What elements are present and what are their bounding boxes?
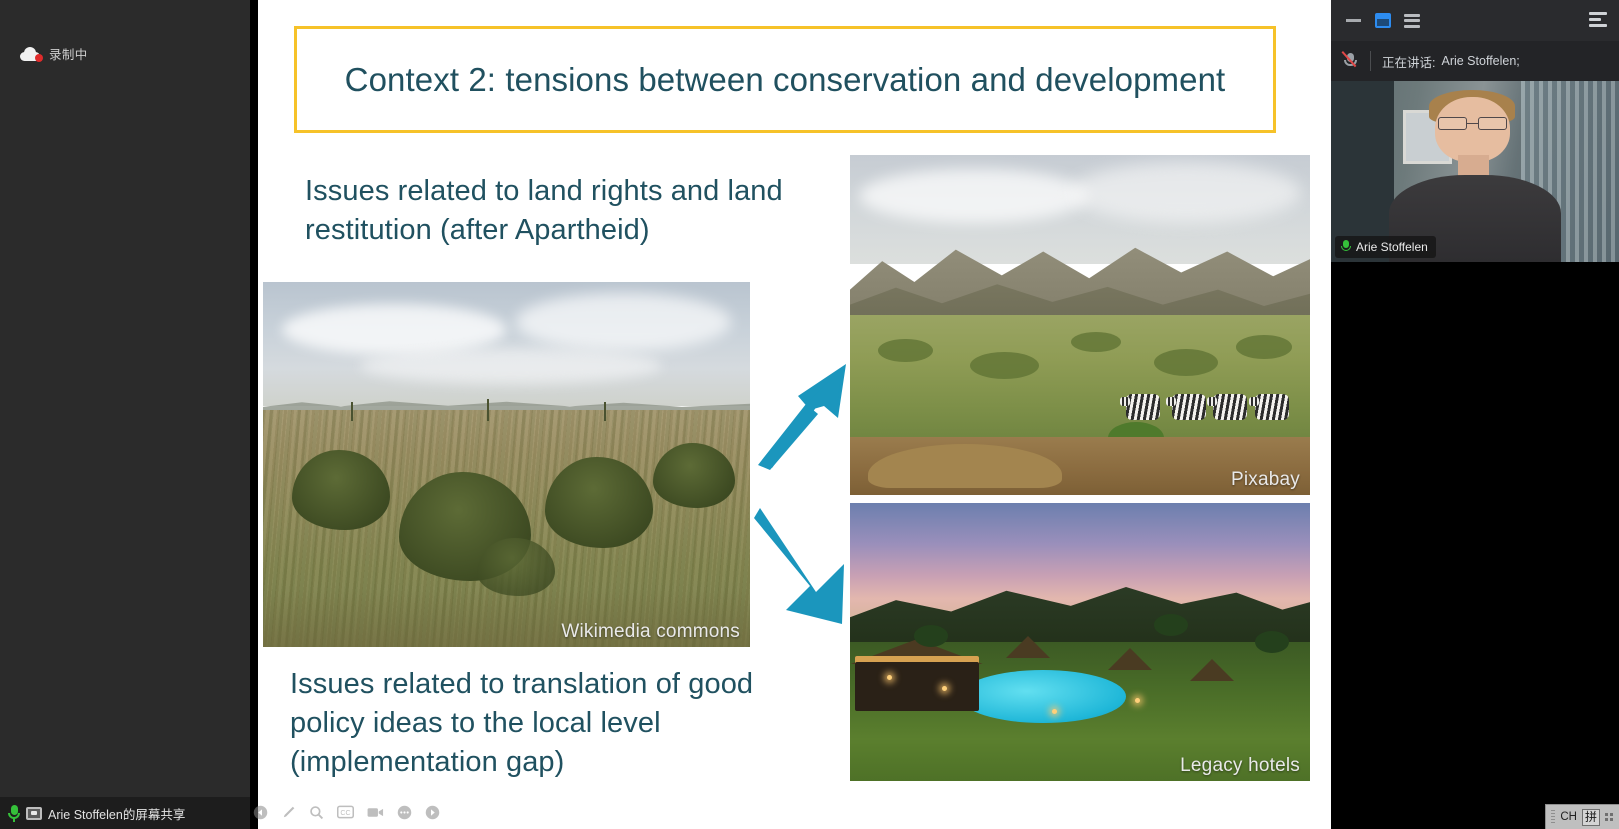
next-slide-icon[interactable]	[425, 805, 440, 820]
photo-caption: Legacy hotels	[1180, 755, 1300, 777]
photo-caption: Pixabay	[1231, 469, 1300, 491]
maximize-icon[interactable]	[1374, 12, 1391, 29]
presentation-slide[interactable]: Context 2: tensions between conservation…	[258, 0, 1331, 829]
panel-titlebar	[1331, 0, 1619, 41]
lodge-resort-photo: Legacy hotels	[850, 503, 1310, 781]
keyboard-options-icon[interactable]	[1605, 813, 1614, 822]
zoom-video-panel: 正在讲话: Arie Stoffelen; Arie Stoffelen	[1331, 0, 1619, 829]
screen-share-icon[interactable]	[26, 807, 42, 820]
ime-language-label[interactable]: CH	[1560, 811, 1577, 823]
slide-text-bottom: Issues related to translation of good po…	[290, 665, 760, 782]
black-gutter	[250, 0, 258, 829]
zebras-savanna-photo: Pixabay	[850, 155, 1310, 495]
slideshow-toolbar[interactable]: CC	[253, 801, 440, 823]
photo-caption: Wikimedia commons	[561, 621, 740, 643]
microphone-icon[interactable]	[8, 805, 20, 822]
magnifier-zoom-icon[interactable]	[309, 805, 324, 820]
previous-slide-icon[interactable]	[253, 805, 268, 820]
more-options-icon[interactable]	[397, 805, 412, 820]
svg-text:CC: CC	[340, 809, 350, 817]
drag-grip-icon[interactable]	[1551, 810, 1555, 825]
slide-text-top: Issues related to land rights and land r…	[305, 172, 785, 250]
minimize-icon[interactable]	[1345, 12, 1362, 29]
bushland-photo: Wikimedia commons	[263, 282, 750, 647]
recording-label: 录制中	[49, 44, 88, 63]
participant-video-tile[interactable]: Arie Stoffelen	[1331, 81, 1619, 262]
arrow-down-right	[754, 500, 850, 630]
participant-name-chip: Arie Stoffelen	[1335, 236, 1436, 258]
screen-share-bar: Arie Stoffelen的屏幕共享	[0, 797, 250, 829]
active-speaker-bar: 正在讲话: Arie Stoffelen;	[1331, 41, 1619, 81]
participant-name: Arie Stoffelen	[1356, 240, 1428, 254]
view-layout-icon[interactable]	[1403, 12, 1420, 29]
arrow-up-right	[754, 360, 850, 470]
ime-language-bar[interactable]: CH 拼	[1545, 804, 1619, 829]
speaking-name-label: Arie Stoffelen;	[1441, 54, 1519, 68]
microphone-muted-icon[interactable]	[1344, 52, 1359, 70]
ime-mode-label[interactable]: 拼	[1582, 809, 1600, 826]
pen-annotate-icon[interactable]	[281, 805, 296, 820]
screen-root: 录制中 Arie Stoffelen的屏幕共享 Context 2: tensi…	[0, 0, 1619, 829]
left-desktop-panel	[0, 0, 250, 829]
slide-title: Context 2: tensions between conservation…	[345, 61, 1226, 99]
recording-indicator: 录制中	[20, 44, 88, 63]
microphone-active-icon	[1341, 240, 1351, 254]
screen-share-label: Arie Stoffelen的屏幕共享	[48, 804, 185, 823]
camera-video-icon[interactable]	[367, 806, 384, 819]
slide-title-box: Context 2: tensions between conservation…	[294, 26, 1276, 133]
subtitles-cc-icon[interactable]: CC	[337, 805, 354, 819]
cloud-record-icon	[20, 47, 42, 61]
speaking-prefix-label: 正在讲话:	[1382, 52, 1435, 71]
expand-panel-icon[interactable]	[1589, 12, 1607, 27]
